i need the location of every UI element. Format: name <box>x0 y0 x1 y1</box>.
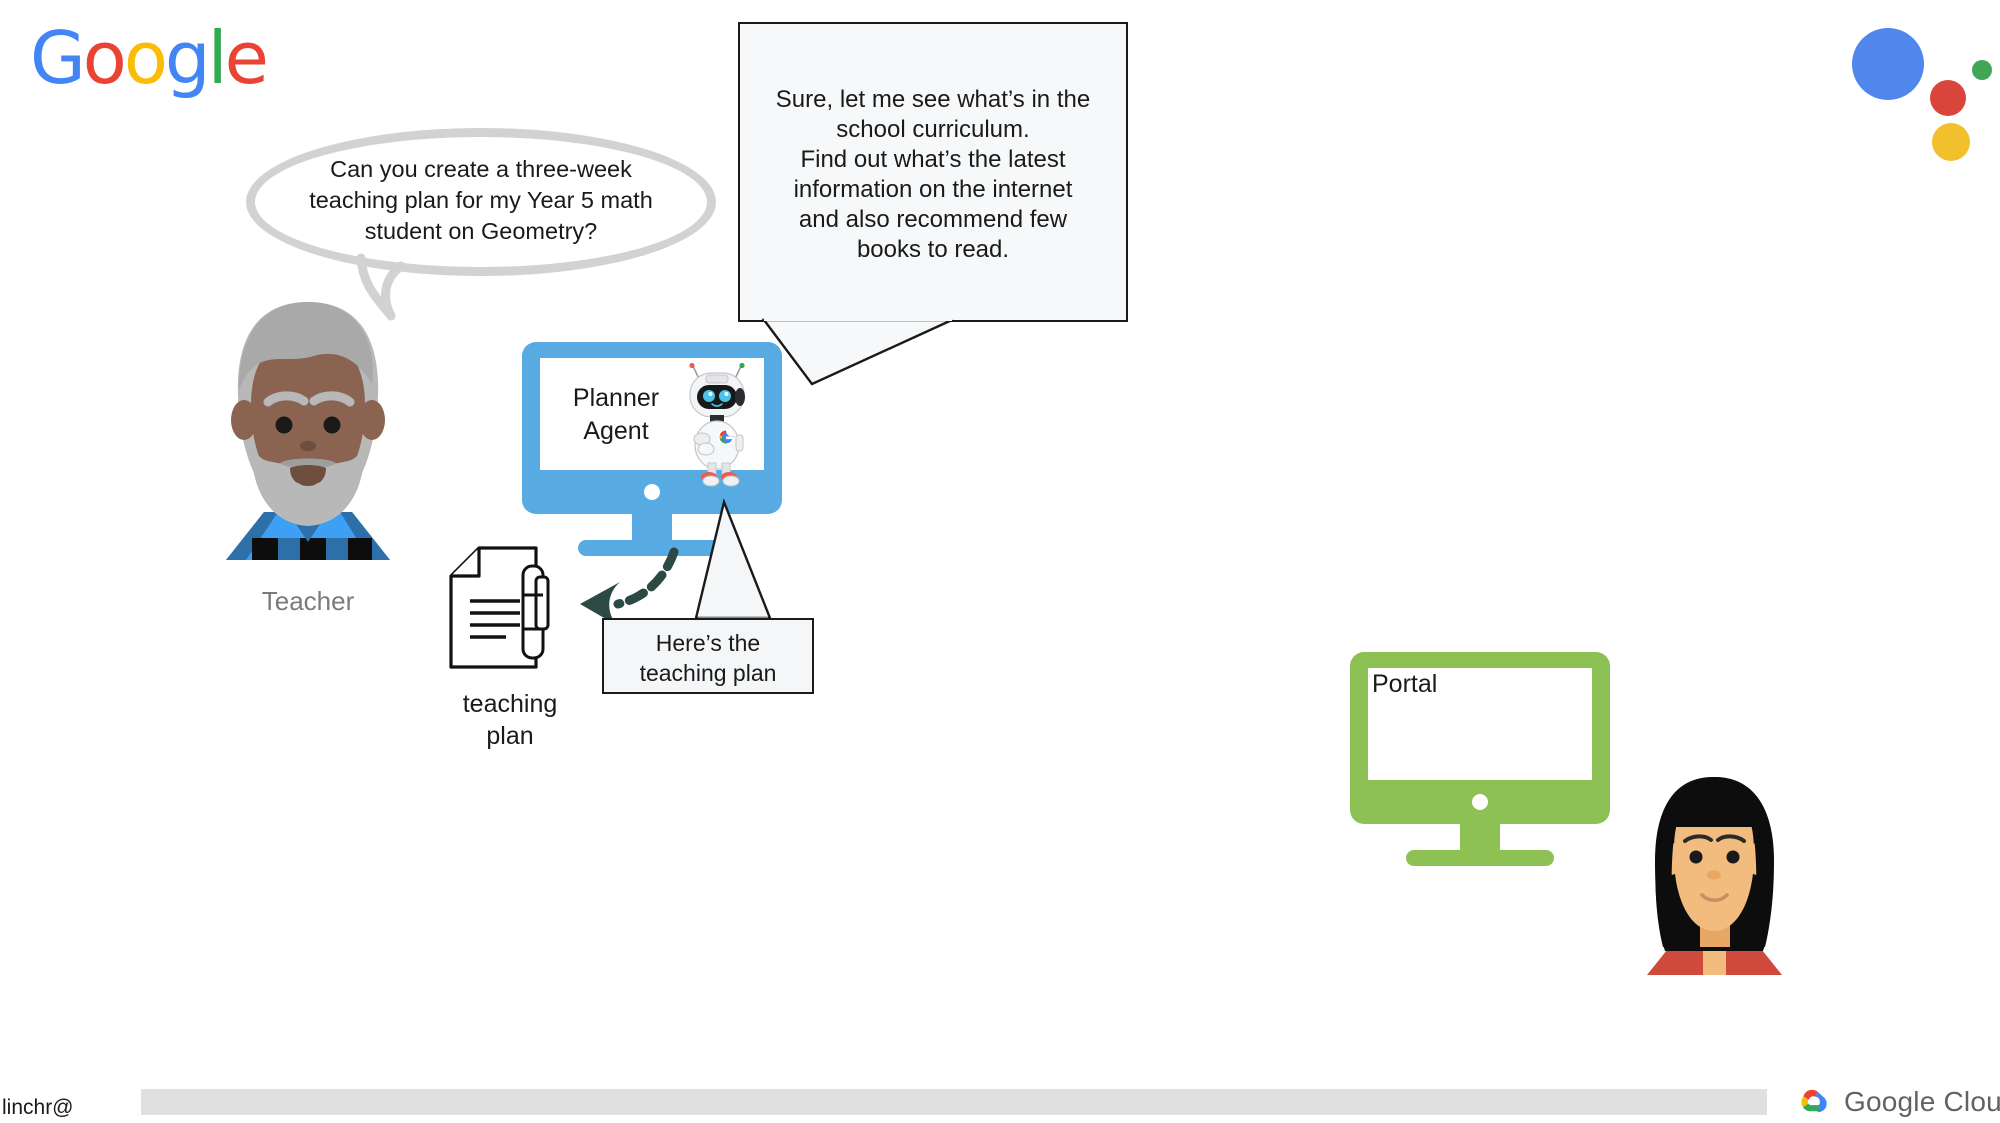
teacher-bubble-text: Can you create a three-week teaching pla… <box>298 154 664 247</box>
portal-monitor-indicator-icon <box>1472 794 1488 810</box>
agent-speech-bubble: Sure, let me see what’s in the school cu… <box>738 22 1128 322</box>
teacher-speech-bubble: Can you create a three-week teaching pla… <box>246 128 716 276</box>
plan-bubble-line-1: Here’s the <box>608 628 808 658</box>
assistant-yellow-dot-icon <box>1932 123 1970 161</box>
agent-bubble-tail-icon <box>762 318 962 388</box>
plan-delivery-speech-bubble: Here’s the teaching plan <box>602 618 814 694</box>
footer-username: linchr@ <box>2 1096 74 1120</box>
teaching-plan-label-line-1: teaching <box>420 688 600 720</box>
google-cloud-word-cloud: Cloud <box>1943 1086 2000 1117</box>
google-logo-letter-o1: o <box>83 22 124 94</box>
google-assistant-logo <box>1852 28 1982 143</box>
teacher-eye-right-icon <box>324 417 341 434</box>
teaching-plan-label: teaching plan <box>420 688 600 752</box>
google-logo-letter-g1: G <box>30 22 83 94</box>
planner-agent-label: Planner Agent <box>556 382 676 448</box>
agent-bubble-text: Sure, let me see what’s in the school cu… <box>760 85 1106 265</box>
student-avatar <box>1643 775 1786 975</box>
planner-agent-label-line-1: Planner <box>556 382 676 415</box>
google-logo-letter-e: e <box>225 22 266 94</box>
assistant-red-dot-icon <box>1930 80 1966 116</box>
student-eye-left-icon <box>1690 851 1703 864</box>
google-cloud-icon <box>1795 1086 1833 1118</box>
agent-bubble-line-3: Find out what’s the latest <box>760 145 1106 175</box>
planner-agent-label-line-2: Agent <box>556 415 676 448</box>
robot-mascot-icon <box>684 363 750 488</box>
agent-bubble-line-5: and also recommend few <box>760 205 1106 235</box>
teacher-label: Teacher <box>222 586 394 617</box>
teaching-plan-label-line-2: plan <box>420 720 600 752</box>
agent-bubble-line-2: school curriculum. <box>760 115 1106 145</box>
footer-progress-bar <box>141 1089 1767 1115</box>
plan-bubble-text: Here’s the teaching plan <box>608 628 808 688</box>
student-eye-right-icon <box>1727 851 1740 864</box>
google-cloud-wordmark: Google Cloud <box>1844 1086 2000 1118</box>
google-cloud-logo: Google Cloud <box>1795 1083 2000 1121</box>
assistant-blue-dot-icon <box>1852 28 1924 100</box>
portal-label: Portal <box>1372 670 1437 699</box>
plan-bubble-tail-icon <box>694 500 774 622</box>
teaching-plan-document-icon <box>448 545 566 670</box>
teacher-avatar <box>222 298 394 560</box>
plan-bubble-line-2: teaching plan <box>608 658 808 688</box>
google-logo-letter-l: l <box>208 22 225 94</box>
planner-monitor-indicator-icon <box>644 484 660 500</box>
agent-bubble-line-6: books to read. <box>760 235 1106 265</box>
agent-bubble-line-4: information on the internet <box>760 175 1106 205</box>
assistant-green-dot-icon <box>1972 60 1992 80</box>
teacher-eye-left-icon <box>276 417 293 434</box>
google-logo: Google <box>30 22 266 94</box>
agent-bubble-line-1: Sure, let me see what’s in the <box>760 85 1106 115</box>
google-logo-letter-g2: g <box>165 22 208 94</box>
google-cloud-word-google: Google <box>1844 1086 1936 1117</box>
google-logo-letter-o2: o <box>124 22 165 94</box>
portal-monitor-base-icon <box>1406 850 1554 866</box>
